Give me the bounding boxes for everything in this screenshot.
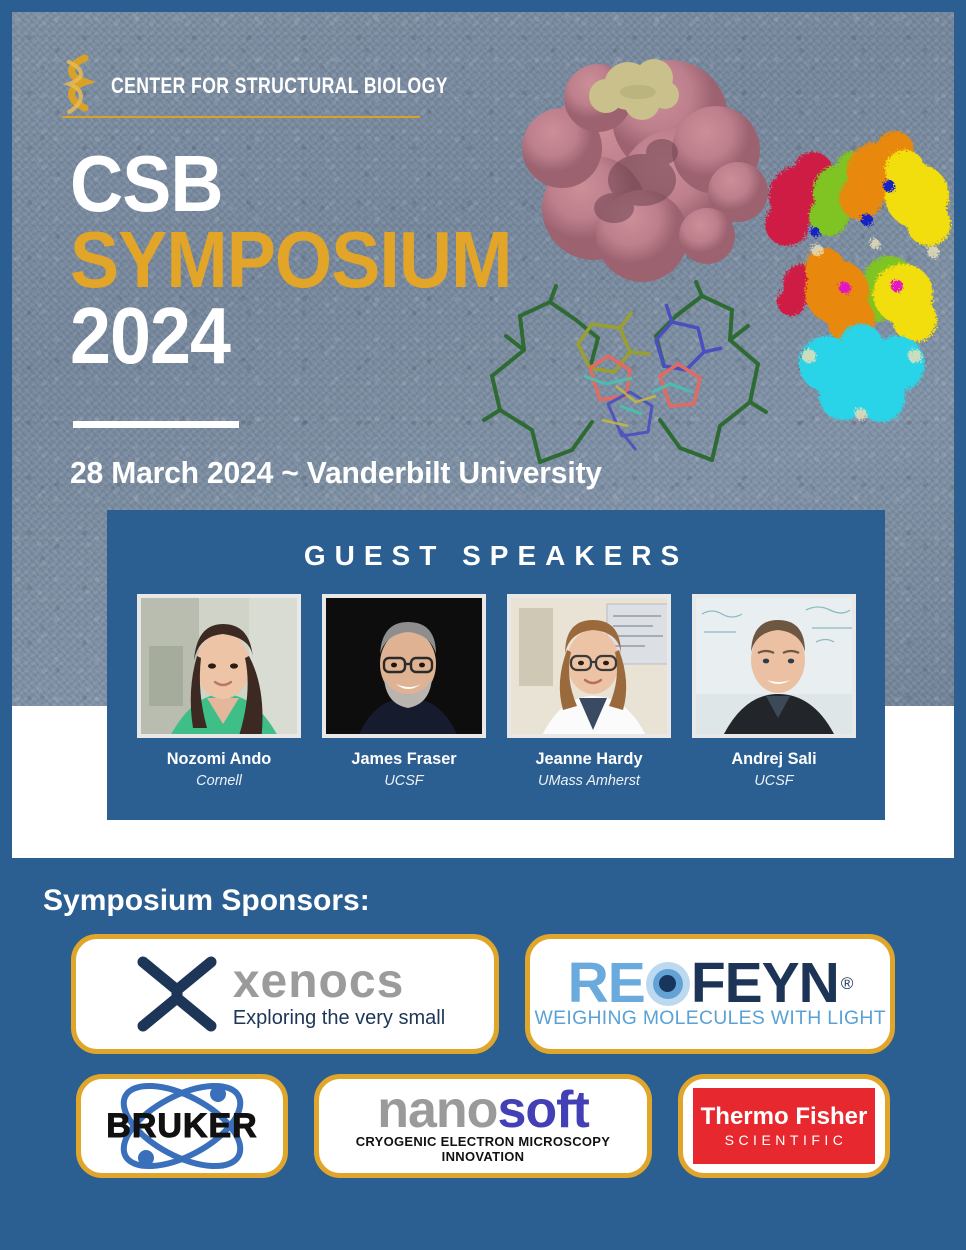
speaker-name: Nozomi Ando bbox=[140, 749, 297, 769]
event-datebar: 28 March 2024 ~ Vanderbilt University bbox=[70, 455, 602, 491]
sponsor-row-2: BRUKER nanosoft CRYOGENIC ELECTRON MICRO… bbox=[12, 1074, 954, 1178]
csb-logo-lockup: CENTER FOR STRUCTURAL BIOLOGY bbox=[59, 54, 532, 118]
portrait-andrej-sali bbox=[696, 598, 856, 738]
sponsor-tagline: CRYOGENIC ELECTRON MICROSCOPY INNOVATION bbox=[319, 1134, 647, 1164]
speaker-grid: Nozomi Ando Cornell bbox=[107, 572, 885, 789]
speaker-photo bbox=[322, 594, 486, 738]
sponsors-section: Symposium Sponsors: xenocs Exploring the… bbox=[12, 858, 954, 1238]
speaker-affiliation: Cornell bbox=[140, 772, 297, 789]
sponsor-card-nanosoft[interactable]: nanosoft CRYOGENIC ELECTRON MICROSCOPY I… bbox=[314, 1074, 652, 1178]
concentric-circle-icon bbox=[646, 962, 690, 1006]
speaker-card-james-fraser: James Fraser UCSF bbox=[322, 594, 486, 789]
speaker-card-nozomi-ando: Nozomi Ando Cornell bbox=[137, 594, 301, 789]
title-line-year: 2024 bbox=[70, 298, 512, 374]
sponsor-card-bruker[interactable]: BRUKER bbox=[76, 1074, 288, 1178]
org-name: CENTER FOR STRUCTURAL BIOLOGY bbox=[111, 75, 448, 97]
title-line-csb: CSB bbox=[70, 146, 512, 222]
guest-speakers-heading: GUEST SPEAKERS bbox=[107, 510, 885, 572]
registered-mark: ® bbox=[841, 976, 853, 991]
sponsor-name-part1: RE bbox=[568, 958, 645, 1009]
sponsor-tagline: SCIENTIFIC bbox=[725, 1132, 848, 1148]
title-divider-rule bbox=[73, 421, 239, 428]
speaker-affiliation: UCSF bbox=[325, 772, 482, 789]
logo-underline-rule bbox=[62, 116, 420, 118]
sponsor-name-part2: FEYN bbox=[691, 958, 839, 1009]
sponsor-tagline: Exploring the very small bbox=[233, 1007, 445, 1029]
speaker-card-andrej-sali: Andrej Sali UCSF bbox=[692, 594, 856, 789]
title-line-symposium: SYMPOSIUM bbox=[70, 222, 512, 298]
poster-root: CENTER FOR STRUCTURAL BIOLOGY CSB SYMPOS… bbox=[0, 0, 966, 1250]
sponsor-name: xenocs bbox=[233, 959, 404, 1005]
portrait-nozomi-ando bbox=[141, 598, 301, 738]
speaker-photo bbox=[507, 594, 671, 738]
speaker-name: Jeanne Hardy bbox=[510, 749, 667, 769]
sponsor-name-part1: nano bbox=[377, 1081, 497, 1139]
guest-speakers-panel: GUEST SPEAKERS bbox=[107, 510, 885, 820]
speaker-affiliation: UCSF bbox=[695, 772, 852, 789]
sponsor-name: BRUKER bbox=[106, 1107, 257, 1146]
portrait-james-fraser bbox=[326, 598, 486, 738]
sponsor-card-xenocs[interactable]: xenocs Exploring the very small bbox=[71, 934, 499, 1054]
speaker-name: Andrej Sali bbox=[695, 749, 852, 769]
sponsor-row-1: xenocs Exploring the very small RE FEYN … bbox=[12, 934, 954, 1054]
x-cross-icon bbox=[133, 950, 221, 1038]
cryoem-density-map bbox=[757, 124, 954, 424]
sponsor-name-part2: soft bbox=[497, 1081, 588, 1139]
speaker-photo bbox=[692, 594, 856, 738]
sponsor-name: Thermo Fisher bbox=[701, 1105, 868, 1129]
speaker-affiliation: UMass Amherst bbox=[510, 772, 667, 789]
speaker-photo bbox=[137, 594, 301, 738]
sponsors-heading: Symposium Sponsors: bbox=[43, 884, 954, 918]
speaker-name: James Fraser bbox=[325, 749, 482, 769]
dna-helix-icon bbox=[59, 54, 99, 118]
sponsor-tagline: WEIGHING MOLECULES WITH LIGHT bbox=[534, 1008, 885, 1030]
sponsor-card-thermofisher[interactable]: Thermo Fisher SCIENTIFIC bbox=[678, 1074, 890, 1178]
portrait-jeanne-hardy bbox=[511, 598, 671, 738]
speaker-card-jeanne-hardy: Jeanne Hardy UMass Amherst bbox=[507, 594, 671, 789]
page-title: CSB SYMPOSIUM 2024 bbox=[70, 146, 550, 374]
sponsor-card-refeyn[interactable]: RE FEYN ® WEIGHING MOLECULES WITH LIGHT bbox=[525, 934, 895, 1054]
